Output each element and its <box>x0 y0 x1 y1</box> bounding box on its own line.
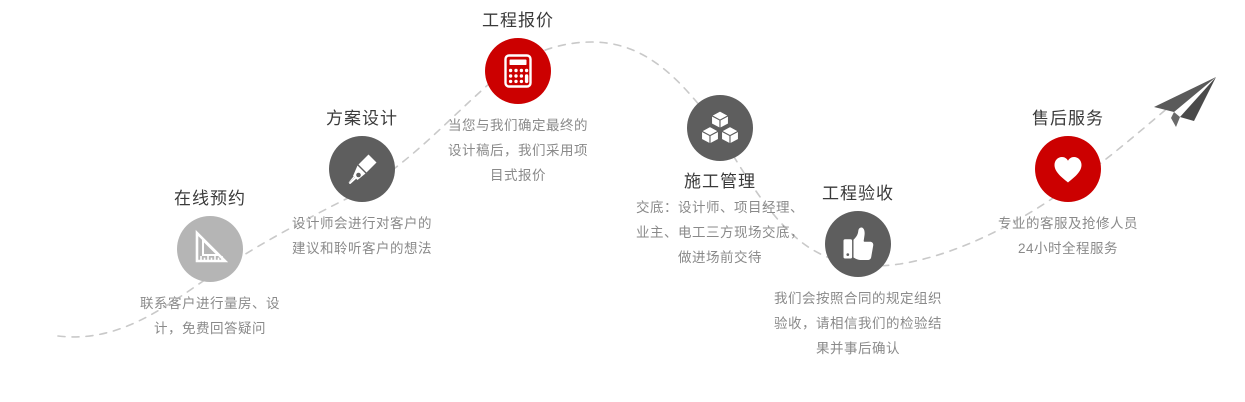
step-description: 我们会按照合同的规定组织验收，请相信我们的检验结果并事后确认 <box>774 286 942 361</box>
step-title: 工程验收 <box>758 183 958 205</box>
step-project-acceptance[interactable]: 工程验收 我们会按照合同的规定组织验收，请相信我们的检验结果并事后确认 <box>758 183 958 361</box>
step-title: 工程报价 <box>418 10 618 32</box>
heart-icon <box>1048 149 1088 189</box>
step-icon-circle[interactable] <box>825 211 891 277</box>
step-description: 联系客户进行量房、设计，免费回答疑问 <box>135 291 285 341</box>
step-icon-circle[interactable] <box>1035 136 1101 202</box>
service-process-timeline: 在线预约 联系客户进行量房、设计，免费回答疑问 方案设计 <box>0 0 1245 402</box>
step-icon-circle[interactable] <box>177 216 243 282</box>
fountain-pen-icon <box>342 149 382 189</box>
step-description: 专业的客服及抢修人员24小时全程服务 <box>990 211 1146 261</box>
ruler-triangle-icon <box>190 229 230 269</box>
step-title: 售后服务 <box>968 108 1168 130</box>
step-description: 设计师会进行对客户的建议和聆听客户的想法 <box>287 211 437 261</box>
step-project-quotation[interactable]: 工程报价 当您与我们确定最终的 <box>418 10 618 188</box>
step-icon-circle[interactable] <box>329 136 395 202</box>
step-after-sales-service[interactable]: 售后服务 专业的客服及抢修人员24小时全程服务 <box>968 108 1168 261</box>
step-icon-circle[interactable] <box>485 38 551 104</box>
step-description: 当您与我们确定最终的设计稿后，我们采用项目式报价 <box>443 113 593 188</box>
cubes-icon <box>699 107 741 149</box>
thumbs-up-icon <box>838 224 878 264</box>
calculator-icon <box>498 51 538 91</box>
step-icon-circle[interactable] <box>687 95 753 161</box>
